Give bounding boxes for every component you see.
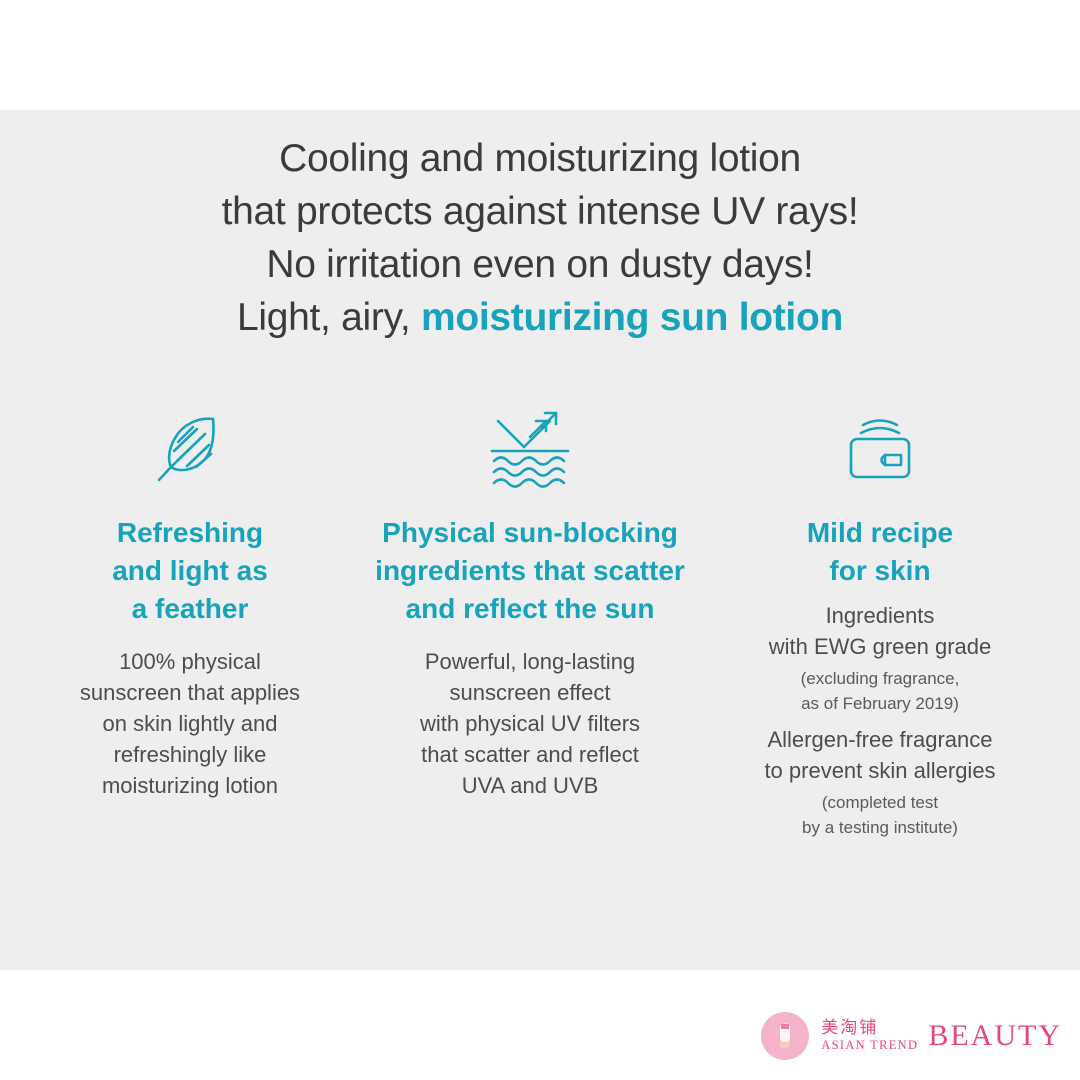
feature-3-title-line-1: Mild recipe — [720, 514, 1040, 552]
feature-2-title-line-3: and reflect the sun — [350, 590, 710, 628]
headline-line-3: No irritation even on dusty days! — [0, 238, 1080, 291]
feature-3-title: Mild recipe for skin — [720, 514, 1040, 590]
feature-1-title-line-2: and light as — [40, 552, 340, 590]
feature-1-body-line-1: 100% physical — [40, 646, 340, 677]
feature-2-body-line-3: with physical UV filters — [350, 708, 710, 739]
feature-column-2: Physical sun-blocking ingredients that s… — [350, 400, 710, 801]
brand-text: 美淘铺 ASIAN TREND — [821, 1019, 918, 1053]
feature-columns: Refreshing and light as a feather 100% p… — [40, 400, 1040, 840]
feature-3-note-2: (completed test by a testing institute) — [720, 790, 1040, 840]
feature-2-body-line-5: UVA and UVB — [350, 770, 710, 801]
brand-name-top: ASIAN TREND — [821, 1038, 918, 1053]
feature-1-body-line-2: sunscreen that applies — [40, 677, 340, 708]
headline-line-1: Cooling and moisturizing lotion — [0, 132, 1080, 185]
feature-column-3: Mild recipe for skin Ingredients with EW… — [720, 400, 1040, 840]
headline-line-4-prefix: Light, airy, — [237, 296, 421, 339]
feature-1-title-line-1: Refreshing — [40, 514, 340, 552]
brand-name-main: BEAUTY — [928, 1019, 1062, 1053]
feature-1-body-line-4: refreshingly like — [40, 739, 340, 770]
feature-1-title-line-3: a feather — [40, 590, 340, 628]
feature-2-body: Powerful, long-lasting sunscreen effect … — [350, 646, 710, 801]
feature-3-note-2-line-2: by a testing institute) — [720, 815, 1040, 840]
feature-3-body-line-2: with EWG green grade — [720, 631, 1040, 662]
feature-3-title-line-2: for skin — [720, 552, 1040, 590]
cream-jar-icon — [720, 400, 1040, 500]
feature-2-body-line-1: Powerful, long-lasting — [350, 646, 710, 677]
feature-3-body-2-line-1: Allergen-free fragrance — [720, 724, 1040, 755]
product-info-graphic: Cooling and moisturizing lotion that pro… — [0, 0, 1080, 1080]
headline-line-2: that protects against intense UV rays! — [0, 185, 1080, 238]
feature-3-body-line-1: Ingredients — [720, 600, 1040, 631]
page-title: Cooling and moisturizing lotion that pro… — [0, 132, 1080, 344]
feature-3-body: Ingredients with EWG green grade — [720, 600, 1040, 662]
feature-3-body-2-line-2: to prevent skin allergies — [720, 755, 1040, 786]
brand-watermark: 美淘铺 ASIAN TREND BEAUTY — [759, 1010, 1062, 1062]
feature-3-note-1: (excluding fragrance, as of February 201… — [720, 666, 1040, 716]
feature-3-note-1-line-1: (excluding fragrance, — [720, 666, 1040, 691]
feature-3-note-2-line-1: (completed test — [720, 790, 1040, 815]
feature-1-body-line-3: on skin lightly and — [40, 708, 340, 739]
uv-reflect-waves-icon — [350, 400, 710, 500]
feature-1-body: 100% physical sunscreen that applies on … — [40, 646, 340, 801]
feature-3-note-1-line-2: as of February 2019) — [720, 691, 1040, 716]
feature-2-body-line-2: sunscreen effect — [350, 677, 710, 708]
feature-3-body-2: Allergen-free fragrance to prevent skin … — [720, 724, 1040, 786]
headline-accent-phrase: moisturizing sun lotion — [421, 296, 843, 339]
feature-2-title-line-1: Physical sun-blocking — [350, 514, 710, 552]
feature-1-title: Refreshing and light as a feather — [40, 514, 340, 628]
feature-2-title-line-2: ingredients that scatter — [350, 552, 710, 590]
bottle-logo-icon — [759, 1010, 811, 1062]
feather-icon — [40, 400, 340, 500]
headline-line-4: Light, airy, moisturizing sun lotion — [0, 291, 1080, 344]
feature-1-body-line-5: moisturizing lotion — [40, 770, 340, 801]
feature-column-1: Refreshing and light as a feather 100% p… — [40, 400, 340, 801]
feature-2-body-line-4: that scatter and reflect — [350, 739, 710, 770]
brand-chinese-name: 美淘铺 — [821, 1019, 878, 1038]
feature-2-title: Physical sun-blocking ingredients that s… — [350, 514, 710, 628]
